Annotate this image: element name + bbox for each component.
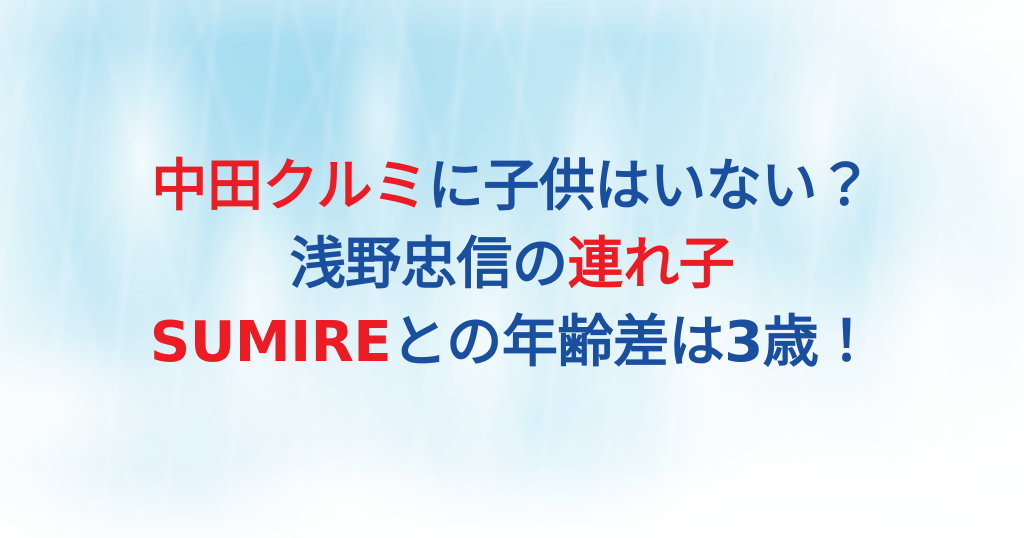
headline-line-2-segment-1: 浅野忠信の <box>290 232 568 297</box>
headline-line-1-segment-1: 中田クルミ <box>151 154 427 219</box>
headline-line-2: 浅野忠信の連れ子 <box>0 226 1024 304</box>
headline-line-3: SUMIREとの年齢差は3歳！ <box>0 304 1024 382</box>
headline-line-1-segment-2: に子供はいない？ <box>428 154 873 219</box>
headline-block: 中田クルミに子供はいない？ 浅野忠信の連れ子 SUMIREとの年齢差は3歳！ <box>0 148 1024 382</box>
headline-line-2-segment-2: 連れ子 <box>568 232 735 297</box>
headline-line-1: 中田クルミに子供はいない？ <box>0 148 1024 226</box>
headline-line-3-segment-1: SUMIRE <box>150 310 391 375</box>
headline-line-3-segment-2: との年齢差は3歳！ <box>391 310 874 375</box>
thumbnail-canvas: 中田クルミに子供はいない？ 浅野忠信の連れ子 SUMIREとの年齢差は3歳！ <box>0 0 1024 538</box>
